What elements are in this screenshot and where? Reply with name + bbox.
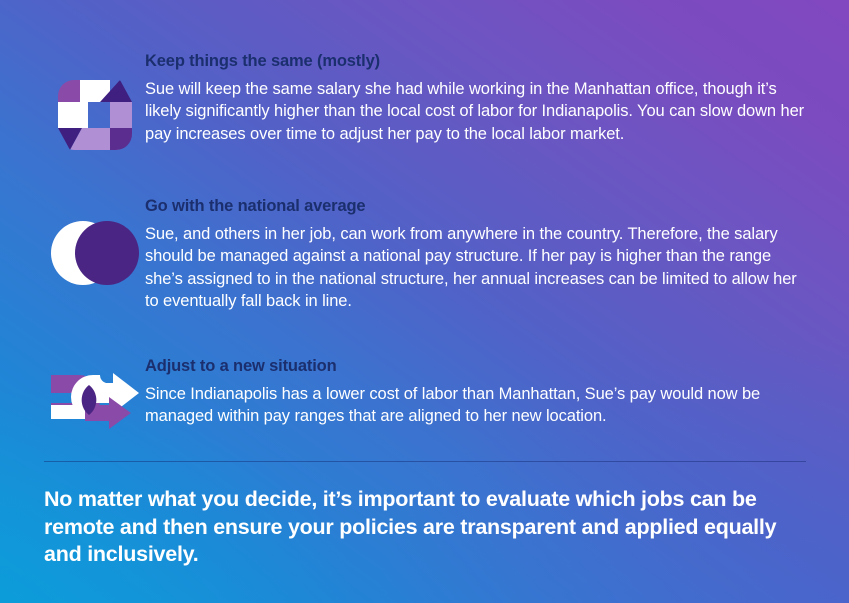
- option-heading: Go with the national average: [145, 197, 805, 217]
- option-text-block: Go with the national average Sue, and ot…: [145, 197, 805, 313]
- option-text-block: Adjust to a new situation Since Indianap…: [145, 357, 805, 428]
- option-icon-slot: [45, 197, 145, 290]
- option-row-keep-things-the-same: Keep things the same (mostly) Sue will k…: [45, 52, 805, 155]
- option-row-go-with-the-national-average: Go with the national average Sue, and ot…: [45, 197, 805, 313]
- option-heading: Keep things the same (mostly): [145, 52, 805, 72]
- infographic-card: Keep things the same (mostly) Sue will k…: [0, 0, 849, 603]
- option-text-block: Keep things the same (mostly) Sue will k…: [145, 52, 805, 145]
- option-body: Since Indianapolis has a lower cost of l…: [145, 383, 805, 428]
- option-body: Sue will keep the same salary she had wh…: [145, 78, 805, 145]
- option-body: Sue, and others in her job, can work fro…: [145, 223, 805, 313]
- section-divider: [44, 461, 806, 462]
- content-layer: Keep things the same (mostly) Sue will k…: [0, 0, 849, 603]
- option-row-adjust-to-a-new-situation: Adjust to a new situation Since Indianap…: [45, 357, 805, 436]
- two-curved-arrows-icon: [49, 369, 141, 436]
- overlapping-circles-icon: [51, 221, 139, 290]
- option-icon-slot: [45, 52, 145, 155]
- option-heading: Adjust to a new situation: [145, 357, 805, 377]
- bottom-callout-text: No matter what you decide, it’s importan…: [44, 486, 804, 569]
- rotating-square-arrows-icon: [58, 80, 132, 155]
- option-icon-slot: [45, 357, 145, 436]
